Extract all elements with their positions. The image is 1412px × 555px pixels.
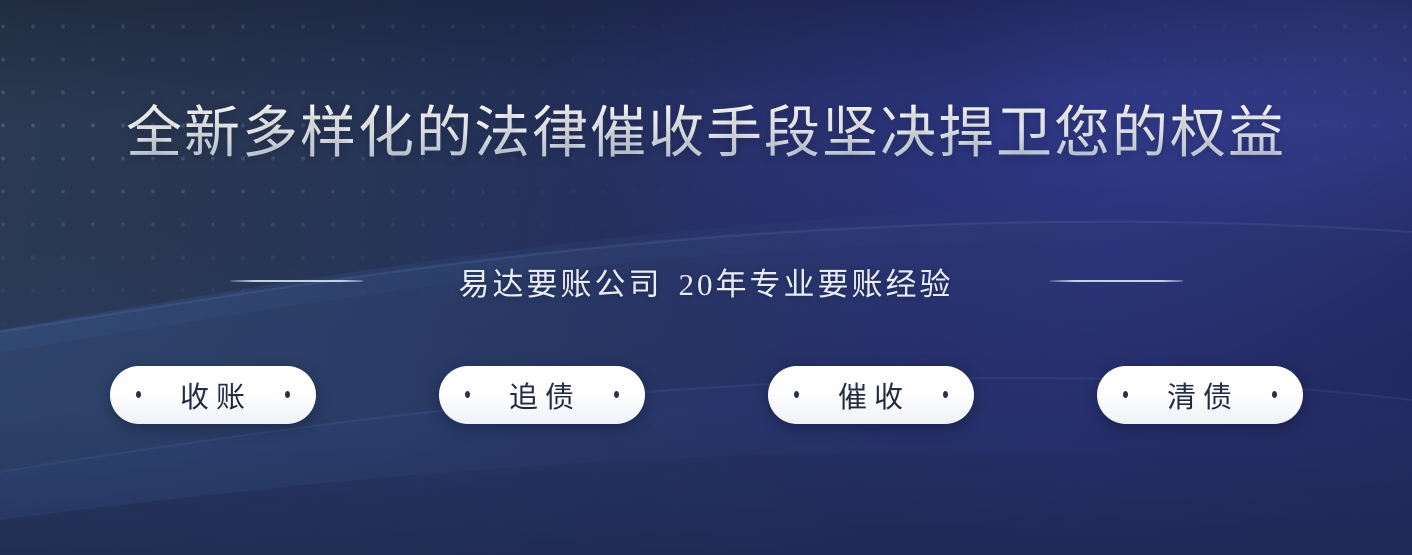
service-pill-list: 收账 追债 催收 清债 bbox=[110, 366, 1303, 424]
bullet-dot-icon bbox=[1272, 391, 1277, 398]
bullet-dot-icon bbox=[1123, 391, 1128, 398]
bullet-dot-icon bbox=[136, 391, 141, 398]
pill-button-1[interactable]: 收账 bbox=[110, 366, 316, 424]
bullet-dot-icon bbox=[465, 391, 470, 398]
pill-label: 清债 bbox=[1160, 374, 1239, 416]
bullet-dot-icon bbox=[285, 391, 290, 398]
pill-label: 催收 bbox=[831, 374, 910, 416]
banner-content: 全新多样化的法律催收手段坚决捍卫您的权益 易达要账公司20年专业要账经验 收账 … bbox=[0, 0, 1412, 555]
bullet-dot-icon bbox=[943, 391, 948, 398]
pill-button-4[interactable]: 清债 bbox=[1097, 366, 1303, 424]
subtitle: 易达要账公司20年专业要账经验 bbox=[459, 259, 954, 304]
pill-label: 追债 bbox=[502, 374, 581, 416]
pill-button-2[interactable]: 追债 bbox=[439, 366, 645, 424]
promo-banner: 全新多样化的法律催收手段坚决捍卫您的权益 易达要账公司20年专业要账经验 收账 … bbox=[0, 0, 1412, 555]
subtitle-experience: 20年专业要账经验 bbox=[679, 267, 954, 302]
page-title: 全新多样化的法律催收手段坚决捍卫您的权益 bbox=[126, 104, 1286, 164]
subtitle-company: 易达要账公司 bbox=[459, 267, 663, 302]
decor-rule-left bbox=[230, 280, 363, 282]
bullet-dot-icon bbox=[794, 391, 799, 398]
decor-rule-right bbox=[1050, 280, 1183, 282]
pill-label: 收账 bbox=[173, 374, 252, 416]
bullet-dot-icon bbox=[614, 391, 619, 398]
pill-button-3[interactable]: 催收 bbox=[768, 366, 974, 424]
subtitle-row: 易达要账公司20年专业要账经验 bbox=[230, 259, 1183, 304]
